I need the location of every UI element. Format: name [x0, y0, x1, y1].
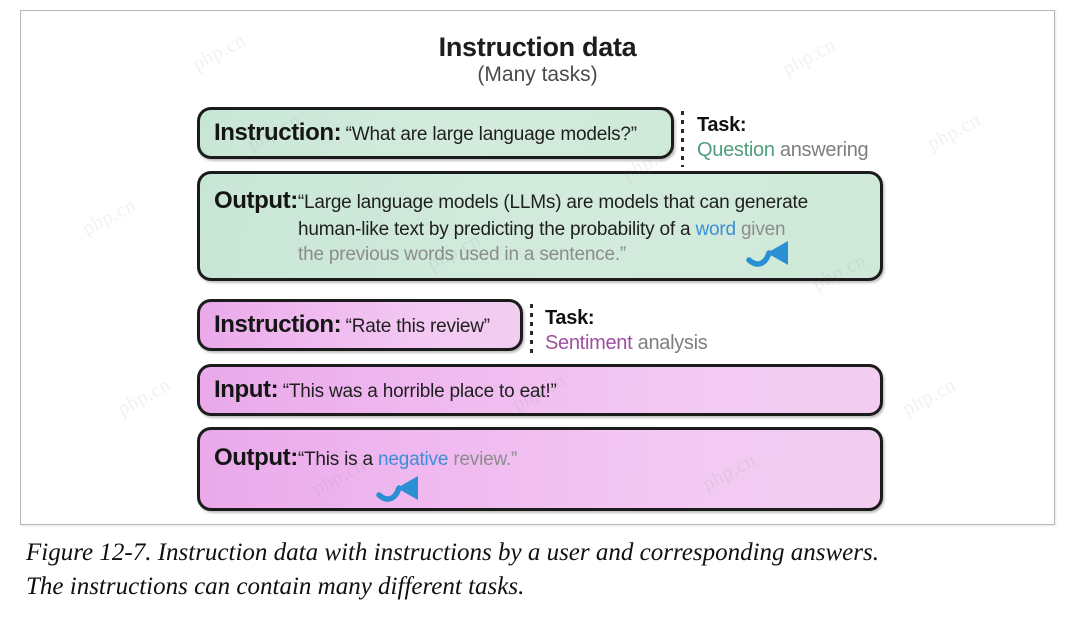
- task-label: Task:: [545, 307, 707, 331]
- output-line-1: “Large language models (LLMs) are models…: [298, 192, 808, 213]
- task-block-sentiment: Task: Sentiment analysis: [545, 307, 707, 355]
- reply-arrow-icon: [743, 238, 791, 277]
- dotted-separator-qa: [681, 111, 684, 167]
- row-label: Output:: [214, 444, 298, 471]
- task-description: Sentiment analysis: [545, 332, 707, 356]
- figure-caption: Figure 12-7. Instruction data with instr…: [26, 536, 1056, 603]
- input-row-sentiment[interactable]: Input: “This was a horrible place to eat…: [197, 364, 883, 416]
- row-content: Input: “This was a horrible place to eat…: [200, 376, 880, 404]
- task-rest: answering: [775, 139, 869, 161]
- row-label: Instruction:: [214, 311, 341, 338]
- caption-line-2: The instructions can contain many differ…: [26, 570, 1056, 604]
- figure-frame: php.cn php.cn php.cn php.cn php.cn php.c…: [20, 10, 1055, 525]
- row-value: “What are large language models?”: [346, 124, 637, 145]
- task-keyword: Sentiment: [545, 332, 632, 354]
- task-rest: analysis: [632, 332, 707, 354]
- output-row-sentiment[interactable]: Output:“This is a negative review.”: [197, 427, 883, 511]
- instruction-row-sentiment[interactable]: Instruction: “Rate this review”: [197, 299, 523, 351]
- watermark-text: php.cn: [924, 109, 985, 156]
- row-content: Output:“This is a negative review.”: [200, 430, 880, 472]
- row-content: Instruction: “Rate this review”: [200, 311, 520, 339]
- task-description: Question answering: [697, 139, 868, 163]
- row-label: Instruction:: [214, 119, 341, 146]
- watermark-text: php.cn: [114, 374, 175, 421]
- row-label: Input:: [214, 376, 278, 403]
- row-content: Instruction: “What are large language mo…: [200, 119, 671, 147]
- instruction-row-qa[interactable]: Instruction: “What are large language mo…: [197, 107, 674, 159]
- row-value: “Rate this review”: [346, 316, 490, 337]
- watermark-text: php.cn: [899, 374, 960, 421]
- output-line-2-pre: human-like text by predicting the probab…: [298, 219, 695, 240]
- caption-line-1: Figure 12-7. Instruction data with instr…: [26, 536, 1056, 570]
- task-keyword: Question: [697, 139, 775, 161]
- row-value: “This was a horrible place to eat!”: [283, 381, 557, 402]
- figure-subtitle: (Many tasks): [21, 64, 1054, 86]
- watermark-text: php.cn: [79, 194, 140, 241]
- task-label: Task:: [697, 114, 868, 138]
- output-line-2-post: given: [736, 219, 786, 240]
- task-block-qa: Task: Question answering: [697, 114, 868, 162]
- output-highlight-word: negative: [378, 449, 448, 470]
- dotted-separator-sentiment: [530, 304, 533, 358]
- reply-arrow-icon: [373, 473, 421, 512]
- figure-title: Instruction data: [21, 33, 1054, 61]
- output-value-pre: “This is a: [298, 449, 378, 470]
- row-label: Output:: [214, 187, 298, 214]
- figure-title-block: Instruction data (Many tasks): [21, 33, 1054, 86]
- output-value-post: review.”: [448, 449, 517, 470]
- output-highlight-word: word: [695, 219, 735, 240]
